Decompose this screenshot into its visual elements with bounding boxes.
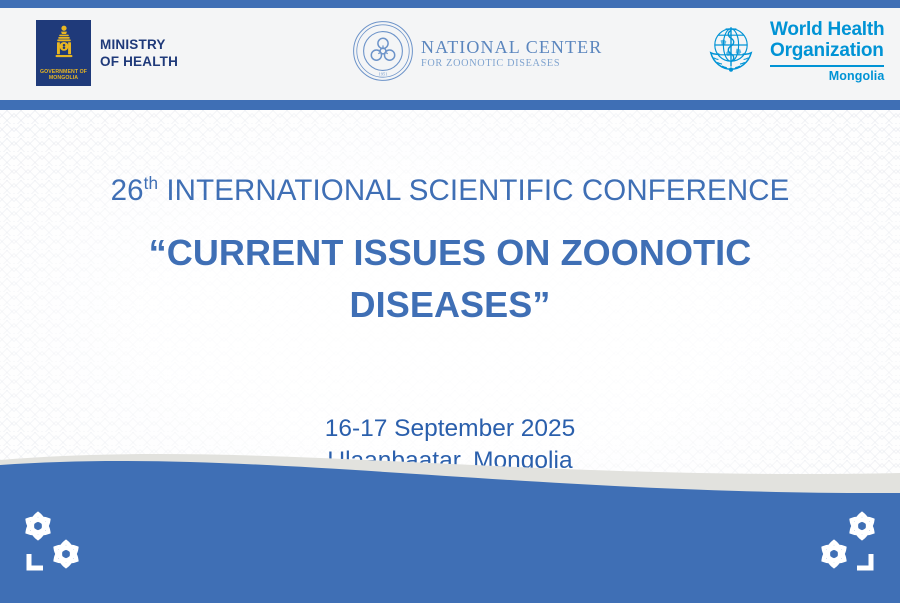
who-underline [770,65,884,67]
nczd-name: NATIONAL CENTER FOR ZOONOTIC DISEASES [421,38,602,69]
who-name-line2: Organization [770,40,884,61]
top-accent-bar [0,0,900,8]
soyombo-emblem-icon [51,24,77,69]
nczd-name-line1: NATIONAL CENTER [421,38,602,56]
mongolia-government-crest: GOVERNMENT OF MONGOLIA [36,20,91,86]
conference-number: 26 [111,174,144,207]
nczd-logo: 1951 NATIONAL CENTER FOR ZOONOTIC DISEAS… [352,20,602,87]
theme-title: “CURRENT ISSUES ON ZOONOTIC DISEASES” [0,227,900,331]
mongolian-triquetra-knot-ornament-left [16,504,92,585]
who-country-label: Mongolia [770,70,884,83]
header-divider-bar [0,100,900,110]
who-name-line1: World Health [770,19,884,40]
title-block: 26th INTERNATIONAL SCIENTIFIC CONFERENCE… [0,172,900,331]
ministry-name-line1: MINISTRY [100,36,178,53]
decorative-wave-band [0,443,900,603]
theme-title-line1: “CURRENT ISSUES ON ZOONOTIC [0,227,900,279]
mongolian-triquetra-knot-ornament-right [808,504,884,585]
conference-heading-rest: INTERNATIONAL SCIENTIFIC CONFERENCE [158,174,789,207]
conference-ordinal-suffix: th [144,174,158,193]
who-name: World Health Organization Mongolia [770,19,884,82]
conference-heading: 26th INTERNATIONAL SCIENTIFIC CONFERENCE [0,172,900,210]
theme-title-line2: DISEASES” [0,279,900,331]
event-date: 16-17 September 2025 [0,413,900,445]
ministry-name: MINISTRY OF HEALTH [100,36,178,70]
seal-year: 1951 [379,72,388,77]
nczd-name-line2: FOR ZOONOTIC DISEASES [421,59,602,69]
crest-caption-line1: GOVERNMENT OF [36,69,91,76]
biohazard-seal-icon: 1951 [352,20,414,87]
who-emblem-icon [700,17,762,84]
ministry-name-line2: OF HEALTH [100,53,178,70]
title-slide: GOVERNMENT OF MONGOLIA MINISTRY OF HEALT… [0,0,900,603]
ministry-of-health-logo: GOVERNMENT OF MONGOLIA MINISTRY OF HEALT… [36,20,178,86]
crest-caption: GOVERNMENT OF MONGOLIA [36,69,91,82]
crest-caption-line2: MONGOLIA [36,75,91,82]
who-logo: World Health Organization Mongolia [700,17,884,84]
